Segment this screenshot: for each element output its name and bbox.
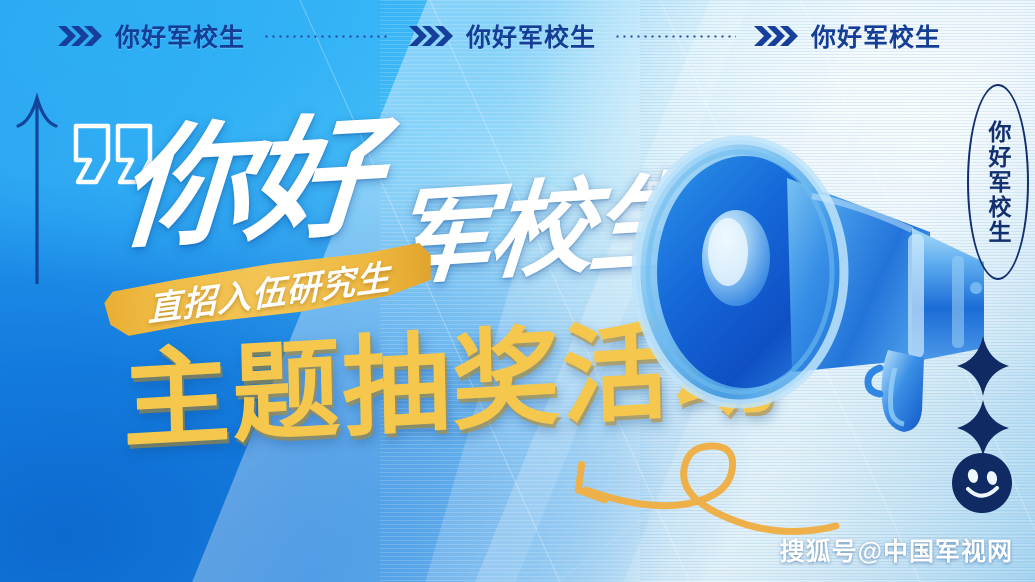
- side-badge-label: 你好军校生: [967, 84, 1029, 280]
- sparkle-four-point-icon: [953, 332, 1013, 462]
- watermark: 搜狐号@中国军视网: [780, 532, 1013, 568]
- megaphone-icon: [612, 110, 1012, 440]
- curved-arrow-up-left-icon: [560, 408, 840, 543]
- main-title-line1: 你好: [115, 111, 377, 257]
- side-badge: 你好军校生: [967, 84, 1029, 280]
- smiley-face-icon: [951, 452, 1013, 514]
- promo-banner: 你好军校生 你好军校生: [0, 0, 1035, 582]
